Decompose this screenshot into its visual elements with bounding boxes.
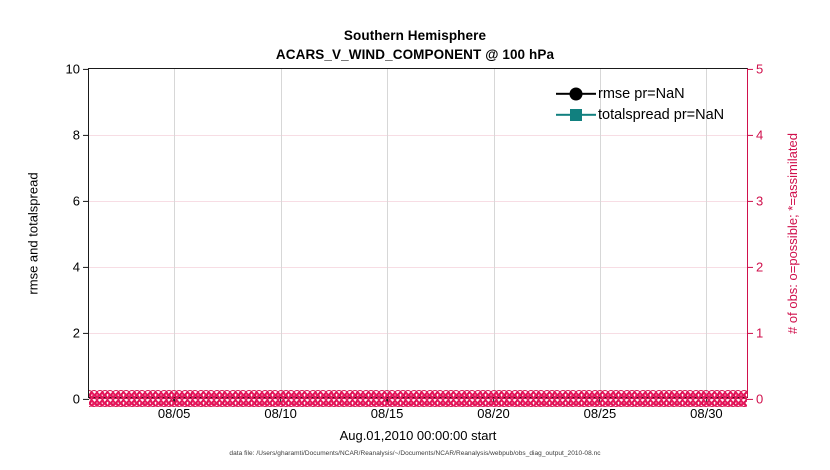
obs-marker xyxy=(734,390,743,399)
obs-marker xyxy=(643,398,652,407)
gridline-horizontal xyxy=(89,267,747,268)
obs-marker xyxy=(132,398,141,407)
obs-marker xyxy=(148,398,157,407)
obs-marker xyxy=(196,398,205,407)
obs-marker xyxy=(633,390,642,399)
obs-marker xyxy=(89,398,94,407)
obs-marker xyxy=(558,398,567,407)
obs-marker xyxy=(441,390,450,399)
y-axis-left-label-text: rmse and totalspread xyxy=(26,172,41,294)
obs-marker xyxy=(297,390,306,399)
obs-marker xyxy=(404,398,413,407)
title-line-2: ACARS_V_WIND_COMPONENT @ 100 hPa xyxy=(0,45,830,64)
y-axis-right-tick-label: 5 xyxy=(747,62,790,77)
obs-marker xyxy=(638,390,647,399)
obs-marker xyxy=(116,398,125,407)
obs-marker xyxy=(324,390,333,399)
obs-marker xyxy=(569,398,578,407)
legend-item: rmse pr=NaN xyxy=(556,83,724,104)
y-axis-left-tick-label: 10 xyxy=(46,62,89,77)
obs-marker xyxy=(324,398,333,407)
gridline-vertical xyxy=(387,69,388,397)
y-axis-left-tick-label: 4 xyxy=(46,260,89,275)
obs-marker xyxy=(345,398,354,407)
obs-marker xyxy=(207,390,216,399)
x-axis-tick-label: 08/10 xyxy=(264,397,297,421)
obs-marker xyxy=(255,398,264,407)
obs-marker xyxy=(122,390,131,399)
obs-marker xyxy=(521,390,530,399)
obs-marker xyxy=(670,390,679,399)
obs-marker xyxy=(106,390,115,399)
obs-marker xyxy=(138,390,147,399)
obs-marker xyxy=(361,390,370,399)
obs-marker xyxy=(319,390,328,399)
obs-marker xyxy=(452,390,461,399)
obs-marker xyxy=(516,390,525,399)
obs-marker xyxy=(132,390,141,399)
obs-marker xyxy=(553,390,562,399)
obs-marker xyxy=(420,390,429,399)
obs-marker xyxy=(654,390,663,399)
legend-item-label: totalspread pr=NaN xyxy=(596,107,724,123)
obs-marker xyxy=(415,398,424,407)
obs-marker xyxy=(191,398,200,407)
obs-marker xyxy=(127,398,136,407)
obs-marker xyxy=(143,390,152,399)
obs-marker xyxy=(308,398,317,407)
obs-marker xyxy=(617,398,626,407)
obs-marker xyxy=(548,398,557,407)
obs-marker xyxy=(361,398,370,407)
obs-marker xyxy=(729,390,738,399)
obs-marker xyxy=(537,398,546,407)
obs-marker xyxy=(739,390,747,399)
obs-marker xyxy=(329,398,338,407)
legend-square-icon xyxy=(556,107,596,123)
obs-marker xyxy=(532,390,541,399)
x-axis-tick-label: 08/20 xyxy=(477,397,510,421)
x-axis-tick-label: 08/25 xyxy=(584,397,617,421)
y-axis-right-label-text: # of obs: o=possible; *=assimilated xyxy=(785,133,800,334)
obs-marker xyxy=(239,390,248,399)
obs-marker xyxy=(723,398,732,407)
obs-marker xyxy=(191,390,200,399)
x-axis-tick-label: 08/15 xyxy=(371,397,404,421)
legend: rmse pr=NaNtotalspread pr=NaN xyxy=(556,83,724,125)
title-line-1: Southern Hemisphere xyxy=(0,26,830,45)
obs-marker xyxy=(313,398,322,407)
obs-marker xyxy=(95,390,104,399)
y-axis-right-tick-label: 3 xyxy=(747,194,790,209)
obs-marker xyxy=(303,390,312,399)
obs-marker xyxy=(430,390,439,399)
obs-marker xyxy=(319,398,328,407)
obs-marker xyxy=(404,390,413,399)
obs-marker xyxy=(659,398,668,407)
obs-marker xyxy=(516,398,525,407)
obs-marker xyxy=(510,398,519,407)
legend-item-label: rmse pr=NaN xyxy=(596,86,685,102)
obs-marker xyxy=(122,398,131,407)
obs-marker xyxy=(564,398,573,407)
obs-marker xyxy=(638,398,647,407)
obs-marker xyxy=(106,398,115,407)
obs-marker xyxy=(95,398,104,407)
obs-marker xyxy=(627,390,636,399)
y-axis-left-tick-label: 2 xyxy=(46,326,89,341)
obs-marker xyxy=(239,398,248,407)
obs-marker xyxy=(617,390,626,399)
obs-marker xyxy=(196,390,205,399)
obs-marker xyxy=(340,398,349,407)
y-axis-right-tick-label: 2 xyxy=(747,260,790,275)
gridline-horizontal xyxy=(89,333,747,334)
obs-marker xyxy=(356,398,365,407)
obs-marker xyxy=(532,398,541,407)
obs-marker xyxy=(329,390,338,399)
obs-marker xyxy=(510,390,519,399)
obs-marker xyxy=(462,390,471,399)
obs-marker xyxy=(659,390,668,399)
obs-marker xyxy=(681,390,690,399)
legend-circle-icon xyxy=(556,86,596,102)
obs-marker xyxy=(542,390,551,399)
obs-marker xyxy=(244,398,253,407)
obs-marker xyxy=(654,398,663,407)
obs-marker xyxy=(297,398,306,407)
obs-marker xyxy=(308,390,317,399)
obs-marker xyxy=(250,398,259,407)
gridline-horizontal xyxy=(89,201,747,202)
y-axis-left-tick-label: 6 xyxy=(46,194,89,209)
x-axis-tick-label: 08/05 xyxy=(158,397,191,421)
obs-marker xyxy=(100,398,109,407)
obs-marker xyxy=(250,390,259,399)
legend-item: totalspread pr=NaN xyxy=(556,104,724,125)
obs-marker xyxy=(143,398,152,407)
obs-marker xyxy=(111,390,120,399)
obs-marker xyxy=(569,390,578,399)
obs-marker xyxy=(723,390,732,399)
obs-marker xyxy=(675,390,684,399)
obs-marker xyxy=(345,390,354,399)
obs-marker xyxy=(542,398,551,407)
obs-marker xyxy=(90,398,99,407)
obs-marker xyxy=(537,390,546,399)
obs-marker xyxy=(138,398,147,407)
obs-marker xyxy=(116,390,125,399)
obs-marker xyxy=(202,398,211,407)
gridline-vertical xyxy=(281,69,282,397)
gridline-vertical xyxy=(174,69,175,397)
obs-marker xyxy=(558,390,567,399)
x-axis-label: Aug.01,2010 00:00:00 start xyxy=(88,428,748,443)
obs-marker xyxy=(468,398,477,407)
obs-marker xyxy=(436,390,445,399)
y-axis-right-label: # of obs: o=possible; *=assimilated xyxy=(783,68,801,398)
obs-marker xyxy=(681,398,690,407)
obs-marker xyxy=(415,390,424,399)
obs-marker xyxy=(202,390,211,399)
obs-marker xyxy=(212,390,221,399)
obs-marker xyxy=(425,390,434,399)
page-title: Southern Hemisphere ACARS_V_WIND_COMPONE… xyxy=(0,26,830,64)
obs-marker xyxy=(622,390,631,399)
x-axis-tick-label: 08/30 xyxy=(690,397,723,421)
obs-marker xyxy=(100,390,109,399)
obs-marker xyxy=(335,398,344,407)
obs-marker xyxy=(548,390,557,399)
y-axis-right-tick-label: 4 xyxy=(747,128,790,143)
obs-marker xyxy=(633,398,642,407)
obs-marker xyxy=(351,390,360,399)
obs-marker xyxy=(622,398,631,407)
obs-marker xyxy=(127,390,136,399)
obs-marker xyxy=(223,390,232,399)
obs-marker xyxy=(420,398,429,407)
obs-marker xyxy=(665,398,674,407)
obs-marker xyxy=(89,390,94,399)
obs-marker xyxy=(351,398,360,407)
obs-marker xyxy=(643,390,652,399)
y-axis-right-tick-label: 1 xyxy=(747,326,790,341)
obs-marker xyxy=(665,390,674,399)
obs-marker xyxy=(564,390,573,399)
obs-marker xyxy=(234,398,243,407)
obs-marker xyxy=(446,390,455,399)
y-axis-left-tick-label: 8 xyxy=(46,128,89,143)
obs-marker xyxy=(457,398,466,407)
obs-marker xyxy=(468,390,477,399)
obs-marker xyxy=(228,390,237,399)
obs-marker xyxy=(218,398,227,407)
obs-marker xyxy=(212,398,221,407)
obs-marker xyxy=(228,398,237,407)
obs-marker xyxy=(729,398,738,407)
obs-marker xyxy=(649,390,658,399)
obs-marker xyxy=(255,390,264,399)
obs-marker xyxy=(457,390,466,399)
obs-marker xyxy=(207,398,216,407)
obs-marker xyxy=(739,398,747,407)
obs-marker xyxy=(521,398,530,407)
obs-marker xyxy=(649,398,658,407)
obs-marker xyxy=(340,390,349,399)
y-axis-left-tick-label: 0 xyxy=(46,392,89,407)
obs-marker xyxy=(111,398,120,407)
obs-marker xyxy=(670,398,679,407)
obs-marker xyxy=(452,398,461,407)
data-file-footer: data file: /Users/gharamti/Documents/NCA… xyxy=(0,450,830,457)
y-axis-right-tick-label: 0 xyxy=(747,392,790,407)
obs-marker xyxy=(244,390,253,399)
obs-marker xyxy=(526,398,535,407)
obs-marker xyxy=(430,398,439,407)
obs-marker xyxy=(446,398,455,407)
gridline-vertical xyxy=(494,69,495,397)
obs-marker xyxy=(436,398,445,407)
y-axis-left-label: rmse and totalspread xyxy=(24,68,42,398)
obs-marker xyxy=(627,398,636,407)
obs-marker xyxy=(303,398,312,407)
obs-marker xyxy=(425,398,434,407)
obs-marker xyxy=(90,390,99,399)
obs-marker xyxy=(148,390,157,399)
obs-marker xyxy=(409,390,418,399)
obs-marker xyxy=(234,390,243,399)
obs-marker xyxy=(409,398,418,407)
obs-marker xyxy=(526,390,535,399)
obs-marker xyxy=(441,398,450,407)
obs-marker xyxy=(462,398,471,407)
obs-marker xyxy=(223,398,232,407)
obs-marker xyxy=(313,390,322,399)
obs-marker xyxy=(574,390,583,399)
obs-marker xyxy=(734,398,743,407)
gridline-horizontal xyxy=(89,135,747,136)
obs-marker xyxy=(335,390,344,399)
obs-marker xyxy=(356,390,365,399)
obs-marker xyxy=(553,398,562,407)
obs-marker xyxy=(218,390,227,399)
obs-marker xyxy=(574,398,583,407)
obs-marker xyxy=(675,398,684,407)
